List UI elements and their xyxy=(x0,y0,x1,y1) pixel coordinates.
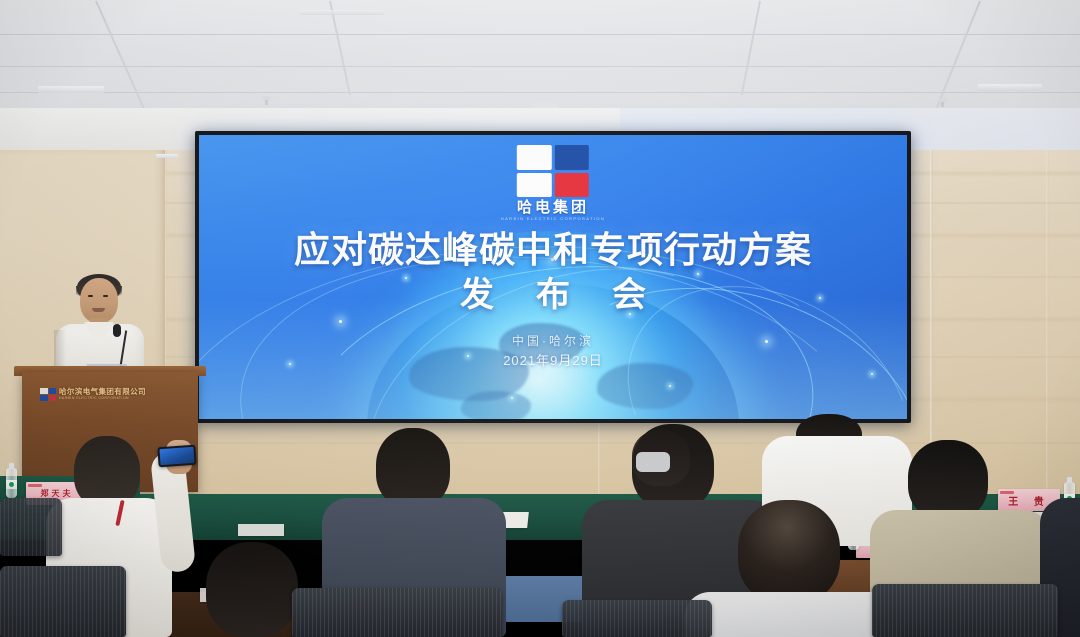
screen-place: 中国·哈尔滨 xyxy=(199,332,907,349)
hec-quad-logo-icon xyxy=(517,145,589,197)
document-sheet xyxy=(238,524,284,536)
podium-plate-cn: 哈尔滨电气集团有限公司 xyxy=(59,388,146,396)
screen-headline-line1: 应对碳达峰碳中和专项行动方案 xyxy=(199,221,907,273)
podium-plate-en: HARBIN ELECTRIC CORPORATION xyxy=(59,397,146,400)
ceiling xyxy=(0,0,1080,120)
screen-date: 2021年9月29日 xyxy=(199,350,907,369)
ceiling-sensor-icon xyxy=(938,98,947,103)
logo-company-cn: 哈电集团 xyxy=(501,200,605,216)
chair xyxy=(872,584,1058,637)
ceiling-light xyxy=(978,84,1042,91)
screen-headline-line2: 发布会 xyxy=(199,267,907,316)
smartphone[interactable] xyxy=(157,445,196,468)
name-card-text: 王 贵 xyxy=(1008,493,1049,508)
microphone-head-icon xyxy=(113,324,121,337)
podium-nameplate: 哈尔滨电气集团有限公司 HARBIN ELECTRIC CORPORATION xyxy=(40,384,174,404)
ceiling-light xyxy=(38,86,104,93)
screen-logo: 哈电集团 HARBIN ELECTRIC CORPORATION xyxy=(501,145,605,221)
face-mask xyxy=(636,452,670,472)
wall-downlight xyxy=(156,154,178,158)
ceiling-sensor-icon xyxy=(262,96,271,101)
chair xyxy=(292,588,502,637)
screen-content: 哈电集团 HARBIN ELECTRIC CORPORATION 应对碳达峰碳中… xyxy=(199,135,907,419)
chair xyxy=(562,600,712,637)
chair xyxy=(0,566,126,637)
water-bottle xyxy=(6,468,17,498)
conference-room-photo: CAMERA xyxy=(0,0,1080,637)
speaker-head xyxy=(80,278,118,323)
ceiling-light xyxy=(300,10,384,15)
speaker-mouth xyxy=(92,308,105,312)
logo-company-en: HARBIN ELECTRIC CORPORATION xyxy=(501,216,605,221)
chair xyxy=(0,498,62,556)
led-display-screen: 哈电集团 HARBIN ELECTRIC CORPORATION 应对碳达峰碳中… xyxy=(195,131,911,423)
podium-logo-icon xyxy=(40,388,56,401)
